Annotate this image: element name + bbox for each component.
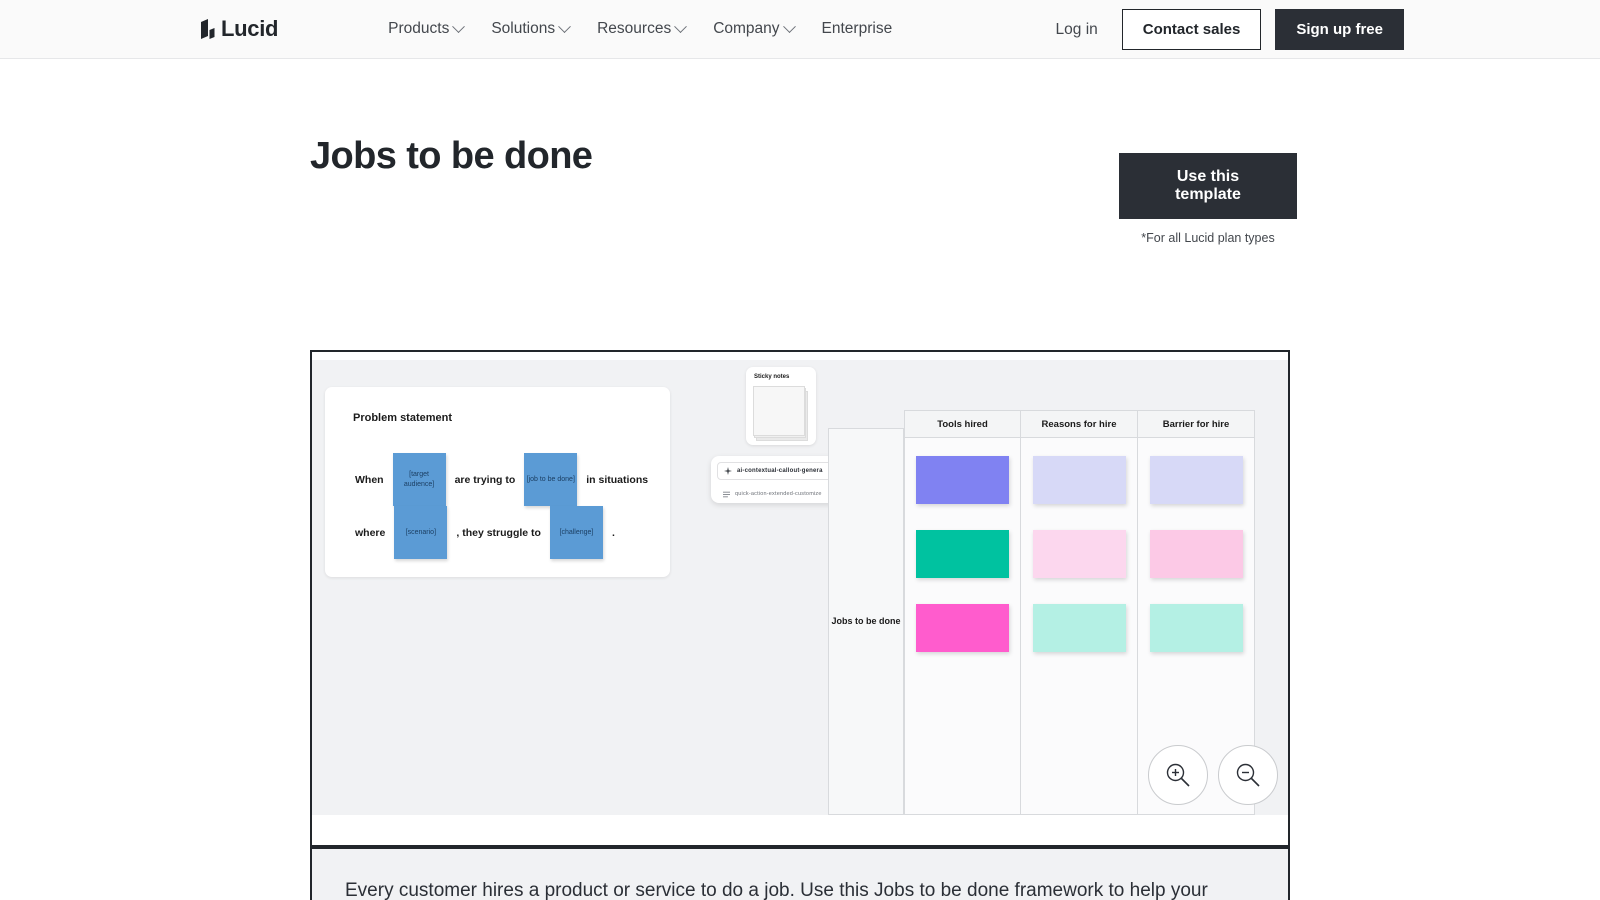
matrix-cell[interactable] bbox=[1021, 448, 1137, 512]
matrix-cell[interactable] bbox=[1138, 522, 1254, 586]
nav-item-label: Enterprise bbox=[822, 20, 893, 38]
sign-up-free-button[interactable]: Sign up free bbox=[1275, 9, 1404, 50]
nav-item-products[interactable]: Products bbox=[388, 20, 463, 38]
top-navigation-bar: Lucid Products Solutions Resources Compa… bbox=[0, 0, 1600, 59]
nav-item-company[interactable]: Company bbox=[713, 20, 793, 38]
nav-menu: Products Solutions Resources Company Ent… bbox=[388, 20, 892, 38]
ps-text-they-struggle-to: , they struggle to bbox=[456, 527, 541, 539]
zoom-out-icon bbox=[1233, 760, 1263, 790]
lucid-logo[interactable]: Lucid bbox=[200, 16, 278, 42]
quick-action-text: quick-action-extended-customize bbox=[735, 491, 822, 497]
nav-item-resources[interactable]: Resources bbox=[597, 20, 685, 38]
nav-item-enterprise[interactable]: Enterprise bbox=[822, 20, 893, 38]
matrix-tile[interactable] bbox=[1150, 456, 1243, 504]
ps-text-in-situations: in situations bbox=[586, 474, 648, 486]
zoom-controls bbox=[1148, 745, 1278, 805]
ai-callout-input[interactable]: ai-contextual-callout-genera bbox=[717, 462, 843, 480]
template-canvas[interactable]: Problem statement When [target audience]… bbox=[312, 360, 1290, 815]
zoom-out-button[interactable] bbox=[1218, 745, 1278, 805]
ps-text-where: where bbox=[355, 527, 385, 539]
matrix-column-header: Tools hired bbox=[905, 411, 1020, 438]
chevron-down-icon bbox=[783, 20, 796, 33]
sticky-notes-label: Sticky notes bbox=[754, 374, 789, 380]
sticky-note-scenario[interactable]: [scenario] bbox=[394, 506, 447, 559]
matrix-row-label-cell: Jobs to be done bbox=[828, 428, 904, 815]
page-title: Jobs to be done bbox=[310, 135, 592, 178]
sticky-note-target-audience[interactable]: [target audience] bbox=[393, 453, 446, 506]
matrix-cell[interactable] bbox=[1138, 596, 1254, 660]
matrix-column-reasons-for-hire: Reasons for hire bbox=[1021, 410, 1138, 815]
lucid-logo-mark bbox=[200, 19, 215, 40]
use-this-template-button[interactable]: Use this template bbox=[1119, 153, 1297, 219]
matrix-cell[interactable] bbox=[1021, 596, 1137, 660]
nav-item-label: Resources bbox=[597, 20, 671, 38]
plan-types-note: *For all Lucid plan types bbox=[1141, 231, 1274, 245]
matrix-cell[interactable] bbox=[905, 596, 1020, 660]
matrix-cell[interactable] bbox=[1138, 448, 1254, 512]
matrix-tile[interactable] bbox=[1033, 456, 1126, 504]
template-preview-frame[interactable]: Problem statement When [target audience]… bbox=[310, 350, 1290, 847]
matrix-column-tools-hired: Tools hired bbox=[904, 410, 1021, 815]
sticky-notes-card[interactable]: Sticky notes bbox=[746, 367, 816, 445]
nav-item-label: Company bbox=[713, 20, 779, 38]
matrix-cell[interactable] bbox=[905, 448, 1020, 512]
zoom-in-icon bbox=[1163, 760, 1193, 790]
matrix-tile[interactable] bbox=[1033, 530, 1126, 578]
contact-sales-button[interactable]: Contact sales bbox=[1122, 9, 1262, 50]
matrix-row-label: Jobs to be done bbox=[831, 616, 900, 628]
sparkle-icon bbox=[724, 462, 732, 480]
matrix-tile[interactable] bbox=[1150, 530, 1243, 578]
matrix-tile[interactable] bbox=[916, 456, 1009, 504]
sticky-note-challenge[interactable]: [challenge] bbox=[550, 506, 603, 559]
ai-callout-text: ai-contextual-callout-genera bbox=[737, 468, 823, 474]
chevron-down-icon bbox=[452, 20, 465, 33]
matrix-column-header: Reasons for hire bbox=[1021, 411, 1137, 438]
lucid-logo-text: Lucid bbox=[221, 16, 278, 42]
matrix-column-header: Barrier for hire bbox=[1138, 411, 1254, 438]
nav-item-label: Products bbox=[388, 20, 449, 38]
ps-text-are-trying-to: are trying to bbox=[455, 474, 516, 486]
quick-action-row[interactable]: quick-action-extended-customize bbox=[717, 480, 843, 503]
sticky-sheet bbox=[753, 386, 805, 436]
template-description-panel: Every customer hires a product or servic… bbox=[310, 847, 1290, 900]
sticky-note-job-to-be-done[interactable]: [job to be done] bbox=[524, 453, 577, 506]
template-description-text: Every customer hires a product or servic… bbox=[345, 877, 1253, 900]
use-template-cta: Use this template *For all Lucid plan ty… bbox=[1119, 153, 1297, 245]
list-icon bbox=[723, 485, 730, 503]
matrix-tile[interactable] bbox=[1033, 604, 1126, 652]
chevron-down-icon bbox=[558, 20, 571, 33]
matrix-cell[interactable] bbox=[1021, 522, 1137, 586]
nav-actions: Log in Contact sales Sign up free bbox=[1056, 0, 1404, 59]
login-link[interactable]: Log in bbox=[1056, 21, 1098, 39]
ps-text-when: When bbox=[355, 474, 384, 486]
matrix-cell[interactable] bbox=[905, 522, 1020, 586]
zoom-in-button[interactable] bbox=[1148, 745, 1208, 805]
ps-text-period: . bbox=[612, 527, 615, 539]
nav-item-label: Solutions bbox=[491, 20, 555, 38]
matrix-tile[interactable] bbox=[916, 530, 1009, 578]
problem-statement-title: Problem statement bbox=[353, 412, 452, 424]
problem-statement-row-2: where [scenario] , they struggle to [cha… bbox=[355, 506, 615, 559]
problem-statement-card[interactable]: Problem statement When [target audience]… bbox=[325, 387, 670, 577]
nav-item-solutions[interactable]: Solutions bbox=[491, 20, 569, 38]
problem-statement-row-1: When [target audience] are trying to [jo… bbox=[355, 453, 648, 506]
matrix-tile[interactable] bbox=[1150, 604, 1243, 652]
chevron-down-icon bbox=[674, 20, 687, 33]
matrix-tile[interactable] bbox=[916, 604, 1009, 652]
